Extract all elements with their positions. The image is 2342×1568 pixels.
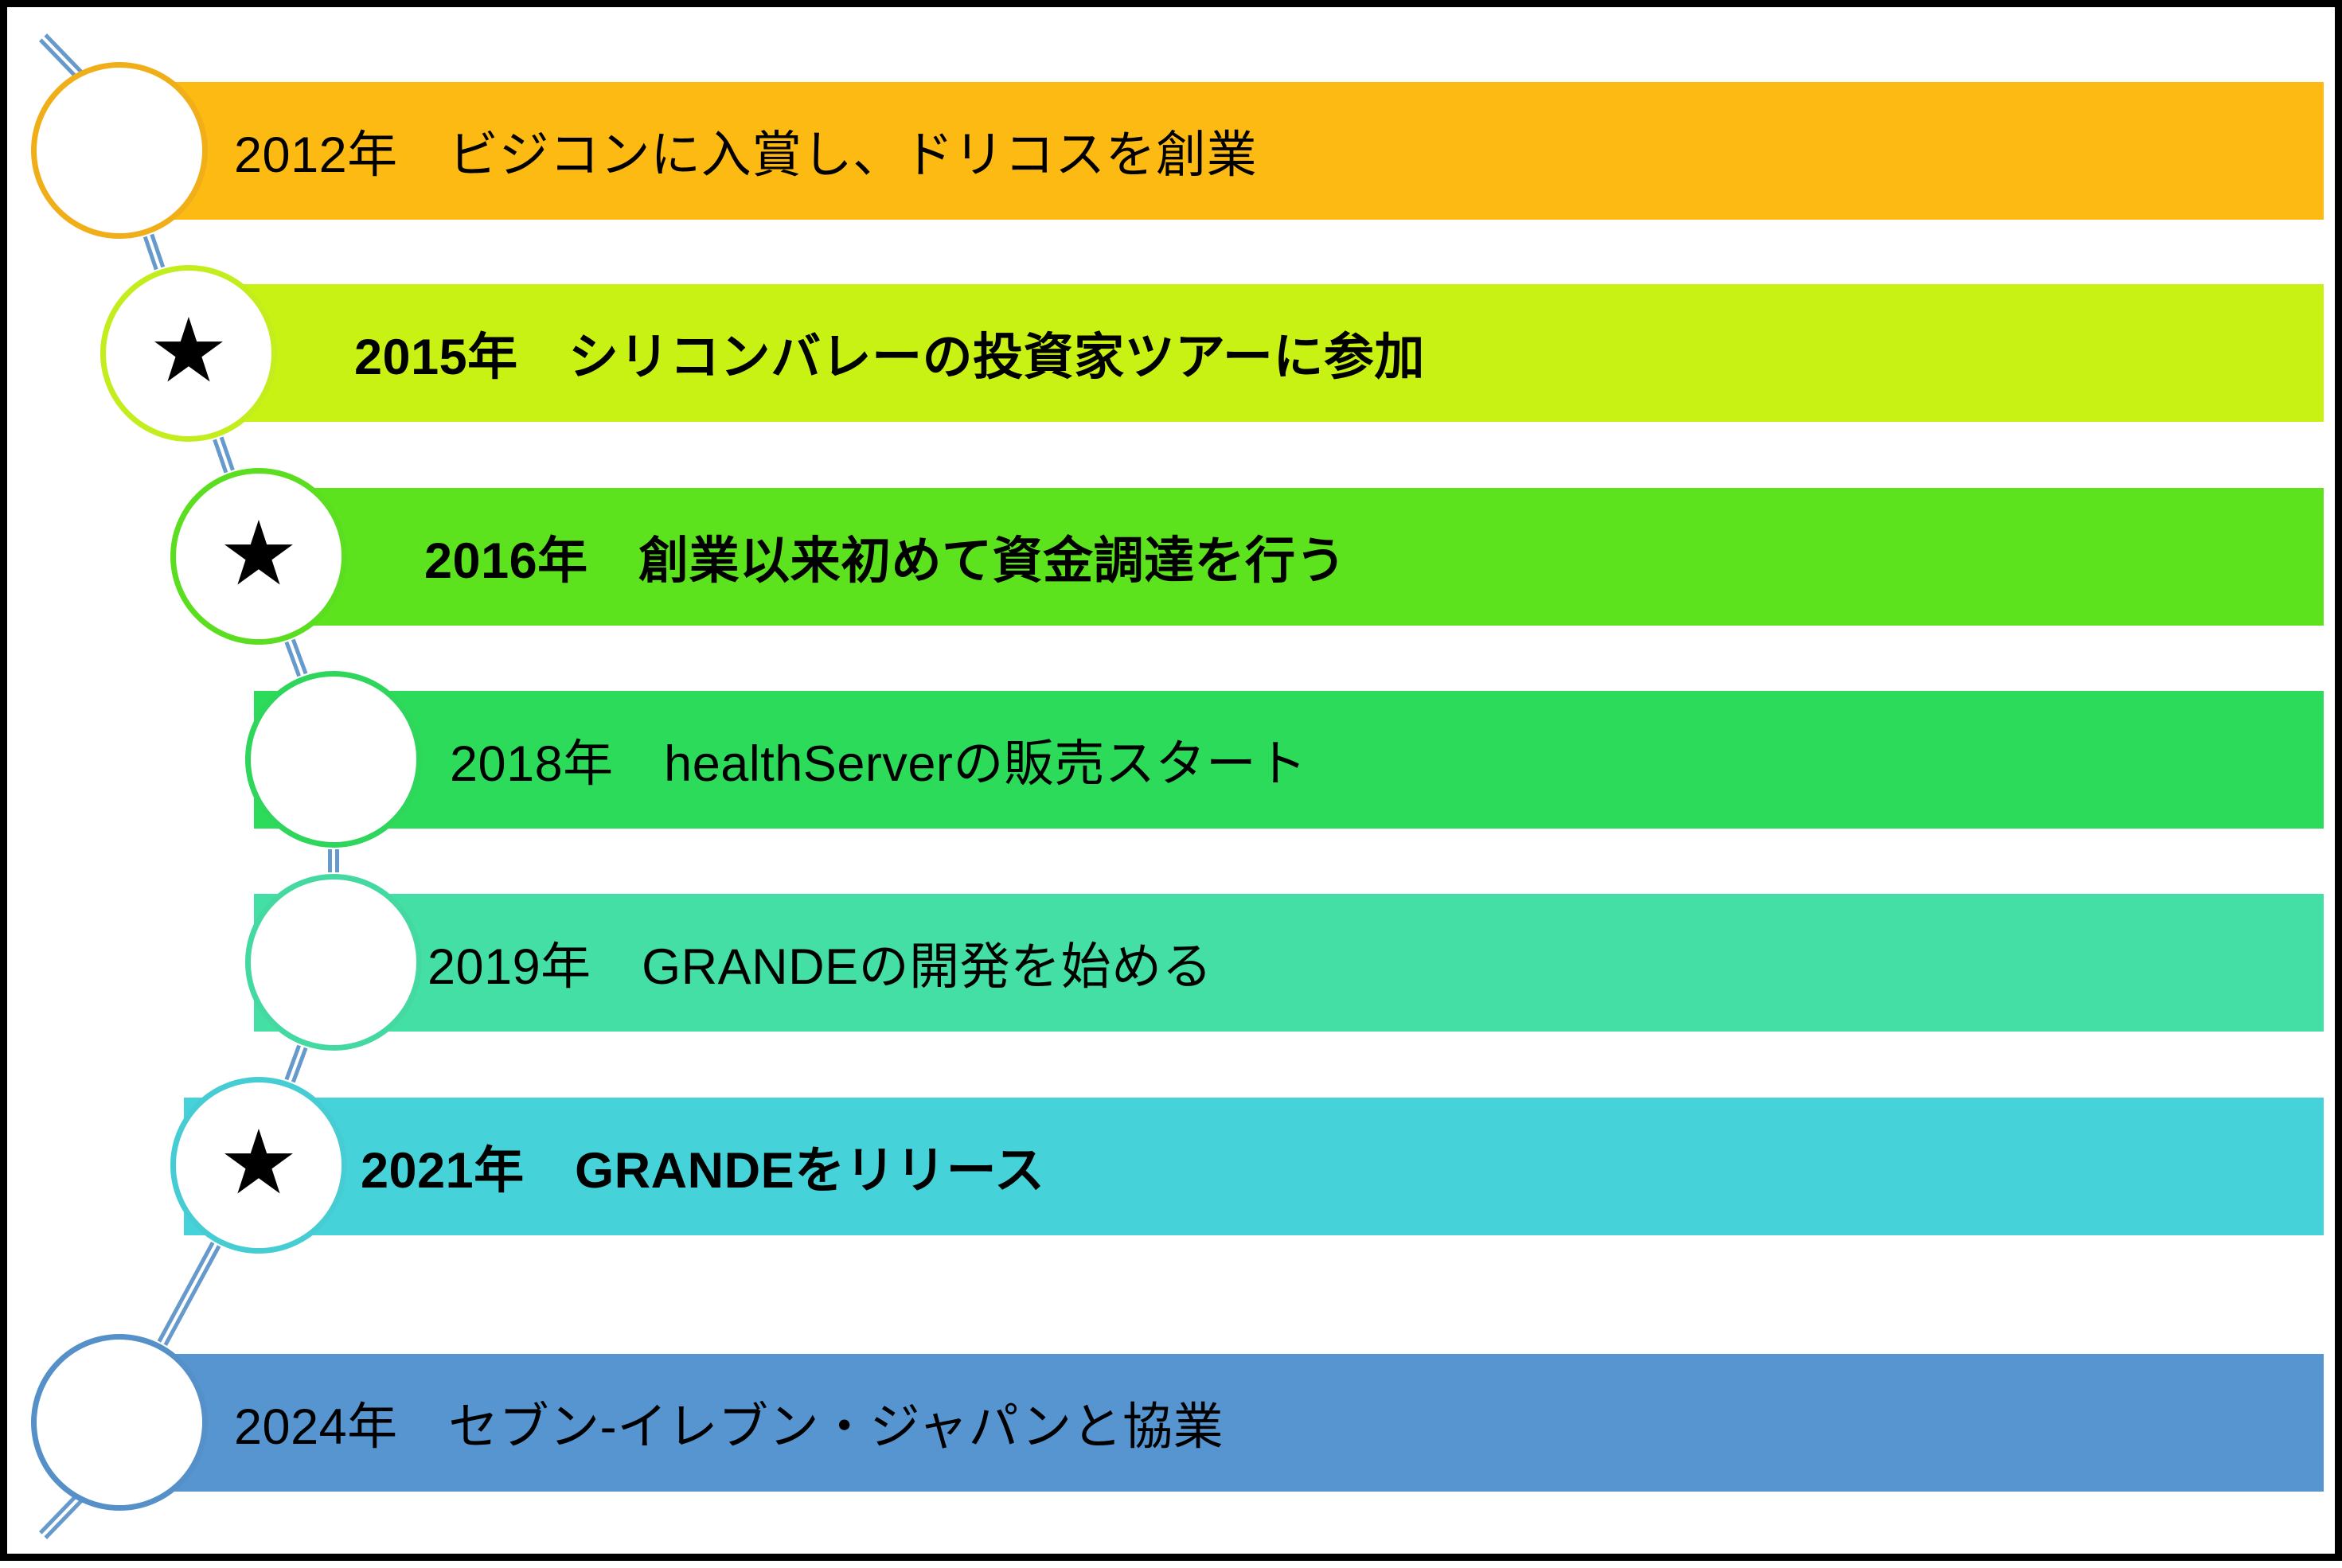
star-icon: ★ <box>219 509 299 599</box>
diagram-frame: 2012年 ビジコンに入賞し、ドリコスを創業★2015年 シリコンバレーの投資家… <box>0 0 2342 1561</box>
connector-line <box>293 639 306 673</box>
timeline-entry-text: 2016年 創業以来初めて資金調達を行う <box>424 488 1346 626</box>
connector-line <box>215 439 226 472</box>
timeline-entry-text: 2024年 セブン-イレブン・ジャパンと協業 <box>234 1354 1224 1492</box>
milestone-circle[interactable] <box>31 62 208 239</box>
connector-line <box>152 234 163 267</box>
timeline-entry-text: 2012年 ビジコンに入賞し、ドリコスを創業 <box>234 82 1257 220</box>
connector-line <box>293 1048 306 1082</box>
connector-line <box>159 1242 213 1341</box>
timeline-entry-text: 2018年 healthServerの販売スタート <box>450 691 1307 829</box>
timeline-entry-text: 2015年 シリコンバレーの投資家ツアーに参加 <box>354 284 1425 422</box>
milestone-circle[interactable] <box>245 671 422 848</box>
milestone-circle[interactable] <box>245 874 422 1051</box>
connector-line <box>287 1045 299 1079</box>
milestone-circle-starred[interactable]: ★ <box>170 1077 347 1254</box>
connector-line <box>287 642 299 677</box>
connector-line <box>221 437 232 470</box>
timeline-entry-text: 2019年 GRANDEの開発を始める <box>427 894 1212 1032</box>
star-icon: ★ <box>149 306 228 396</box>
milestone-circle[interactable] <box>31 1334 208 1511</box>
timeline-entry-text: 2021年 GRANDEをリリース <box>361 1098 1045 1235</box>
timeline-canvas: 2012年 ビジコンに入賞し、ドリコスを創業★2015年 シリコンバレーの投資家… <box>7 7 2342 1568</box>
star-icon: ★ <box>219 1118 299 1207</box>
milestone-circle-starred[interactable]: ★ <box>170 468 347 645</box>
connector-line <box>145 236 156 269</box>
milestone-circle-starred[interactable]: ★ <box>100 265 277 442</box>
connector-line <box>166 1246 219 1344</box>
